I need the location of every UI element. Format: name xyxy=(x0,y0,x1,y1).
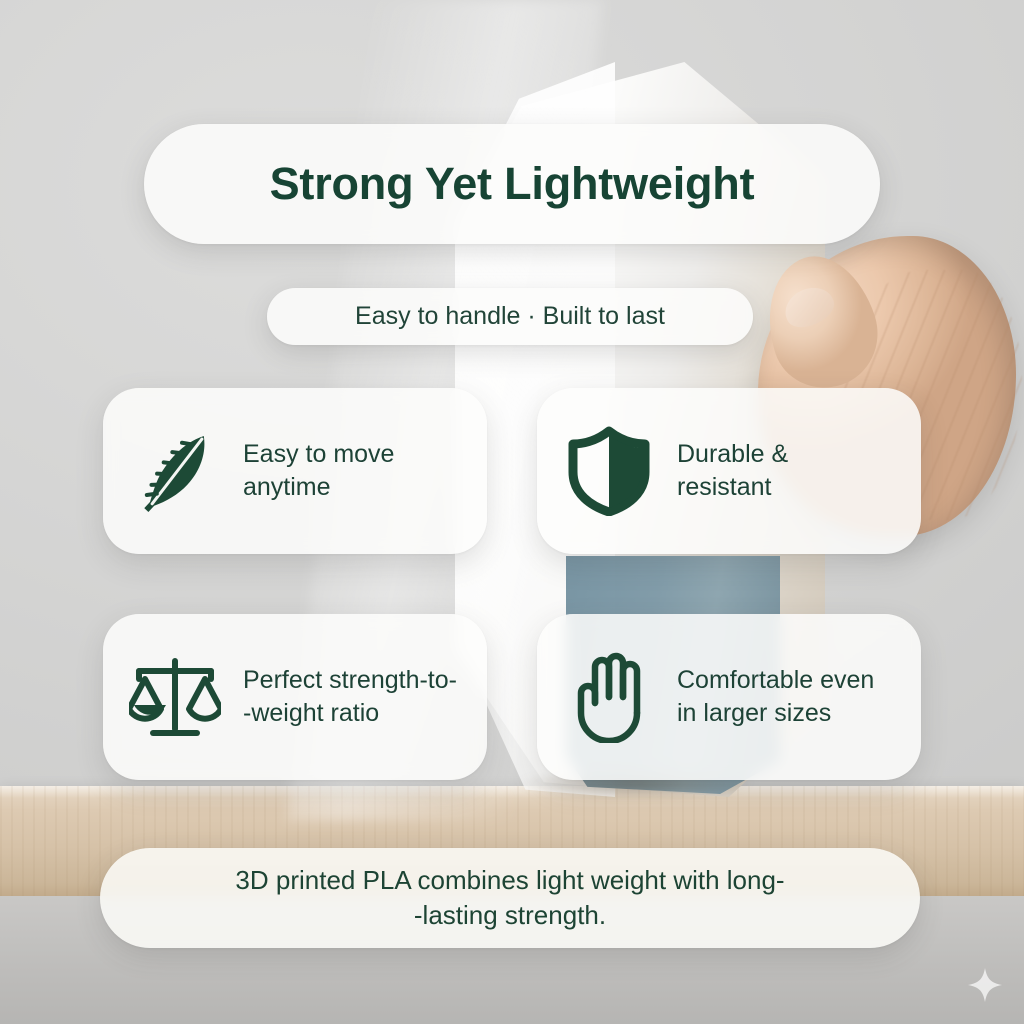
title-pill: Strong Yet Lightweight xyxy=(144,124,880,244)
feature-card-label-line1: Comfortable even xyxy=(677,666,874,694)
feature-card-easy-to-move[interactable]: Easy to move anytime xyxy=(103,388,487,554)
feature-card-label-line2: resistant xyxy=(677,473,771,501)
feature-card-label-line2: -weight ratio xyxy=(243,699,379,727)
feature-card-label-line1: Durable & xyxy=(677,440,788,468)
infographic-canvas: Strong Yet Lightweight Easy to handle · … xyxy=(0,0,1024,1024)
feature-card-label-line1: Easy to move xyxy=(243,440,394,468)
footer-text-line2: -lasting strength. xyxy=(414,900,606,930)
feature-card-label-line2: in larger sizes xyxy=(677,699,831,727)
feature-card-strength-to-weight[interactable]: Perfect strength-to- -weight ratio xyxy=(103,614,487,780)
feature-card-label-line2: anytime xyxy=(243,473,331,501)
subtitle-pill: Easy to handle · Built to last xyxy=(267,288,753,345)
feature-card-label: Perfect strength-to- -weight ratio xyxy=(243,664,457,731)
feature-card-label-line1: Perfect strength-to- xyxy=(243,666,457,694)
footer-pill: 3D printed PLA combines light weight wit… xyxy=(100,848,920,948)
page-subtitle: Easy to handle · Built to last xyxy=(355,302,665,331)
feature-card-durable[interactable]: Durable & resistant xyxy=(537,388,921,554)
feature-card-label: Durable & resistant xyxy=(677,438,788,505)
footer-text: 3D printed PLA combines light weight wit… xyxy=(235,863,784,934)
overlay-ui: Strong Yet Lightweight Easy to handle · … xyxy=(0,0,1024,1024)
feature-card-label: Easy to move anytime xyxy=(243,438,394,505)
feather-icon xyxy=(129,423,221,519)
footer-text-line1: 3D printed PLA combines light weight wit… xyxy=(235,865,784,895)
feature-card-label: Comfortable even in larger sizes xyxy=(677,664,874,731)
sparkle-icon xyxy=(968,968,1002,1002)
feature-card-comfortable[interactable]: Comfortable even in larger sizes xyxy=(537,614,921,780)
shield-icon xyxy=(563,423,655,519)
balance-scale-icon xyxy=(129,649,221,745)
open-hand-icon xyxy=(563,649,655,745)
page-title: Strong Yet Lightweight xyxy=(270,158,755,210)
